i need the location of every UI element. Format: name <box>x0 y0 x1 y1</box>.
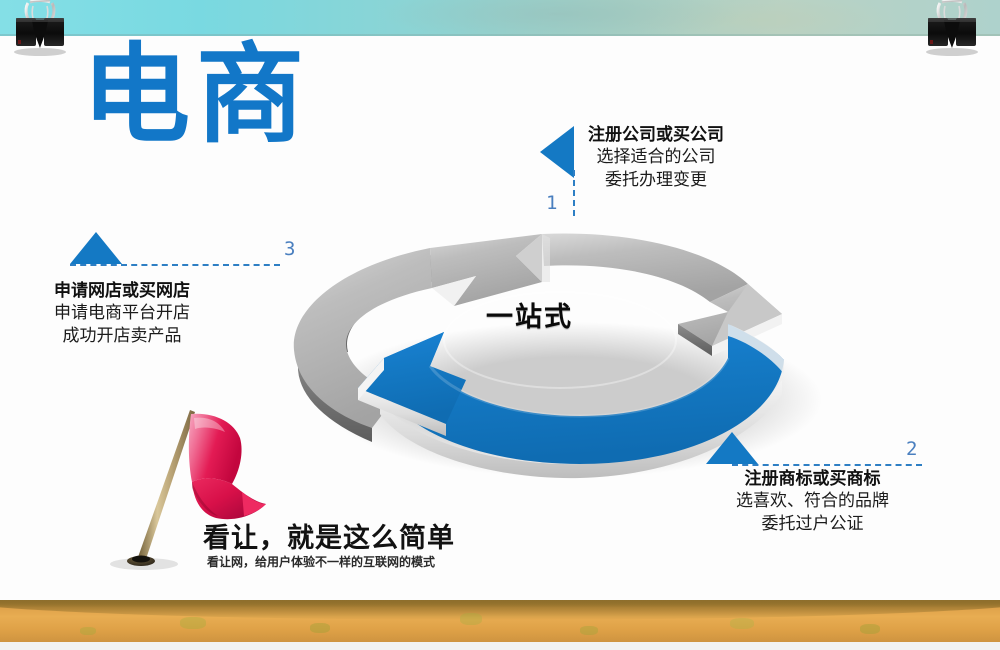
step-2-title: 注册商标或买商标 <box>736 468 889 490</box>
step-2-triangle-up-icon <box>706 432 758 464</box>
wheat-speck <box>80 627 96 635</box>
step-1-number: 1 <box>546 192 557 214</box>
step-2-text-block: 注册商标或买商标 选喜欢、符合的品牌 委托过户公证 <box>736 468 889 536</box>
wheat-speck <box>580 626 598 635</box>
wheat-speck <box>310 623 330 633</box>
binder-clip-right-icon <box>920 0 984 56</box>
binder-clip-left-icon <box>8 0 72 56</box>
wheat-speck <box>180 617 206 629</box>
infographic-canvas: 电商 <box>0 0 1000 650</box>
step-2-line-2: 委托过户公证 <box>736 513 889 536</box>
cycle-center-label: 一站式 <box>486 295 573 334</box>
step-2-number: 2 <box>906 438 917 460</box>
step-3-dashed-connector <box>70 264 280 266</box>
bottom-wheat-banner <box>0 600 1000 642</box>
top-sky-banner <box>0 0 1000 36</box>
bottom-page-edge <box>0 642 1000 650</box>
wheat-speck <box>730 618 754 629</box>
step-3-line-1: 申请电商平台开店 <box>54 302 190 325</box>
tagline-sub: 看让网，给用户体验不一样的互联网的模式 <box>207 553 435 570</box>
wheat-speck <box>460 613 482 625</box>
step-2-dashed-connector <box>732 464 922 466</box>
wheat-ridge <box>0 600 1000 620</box>
tagline-main: 看让，就是这么简单 <box>203 516 455 555</box>
step-3-triangle-up-icon <box>70 232 122 264</box>
step-3-title: 申请网店或买网店 <box>54 280 190 302</box>
step-1-line-2: 委托办理变更 <box>588 169 724 192</box>
step-1-text-block: 注册公司或买公司 选择适合的公司 委托办理变更 <box>588 124 724 192</box>
step-2-line-1: 选喜欢、符合的品牌 <box>736 490 889 513</box>
step-1-triangle-left-icon <box>540 126 574 178</box>
step-1-line-1: 选择适合的公司 <box>588 146 724 169</box>
step-3-number: 3 <box>284 238 295 260</box>
step-1-title: 注册公司或买公司 <box>588 124 724 146</box>
wheat-speck <box>860 624 880 634</box>
step-3-text-block: 申请网店或买网店 申请电商平台开店 成功开店卖产品 <box>54 280 190 348</box>
page-title: 电商 <box>82 42 310 150</box>
step-1-dashed-connector <box>573 170 575 216</box>
step-3-line-2: 成功开店卖产品 <box>54 325 190 348</box>
